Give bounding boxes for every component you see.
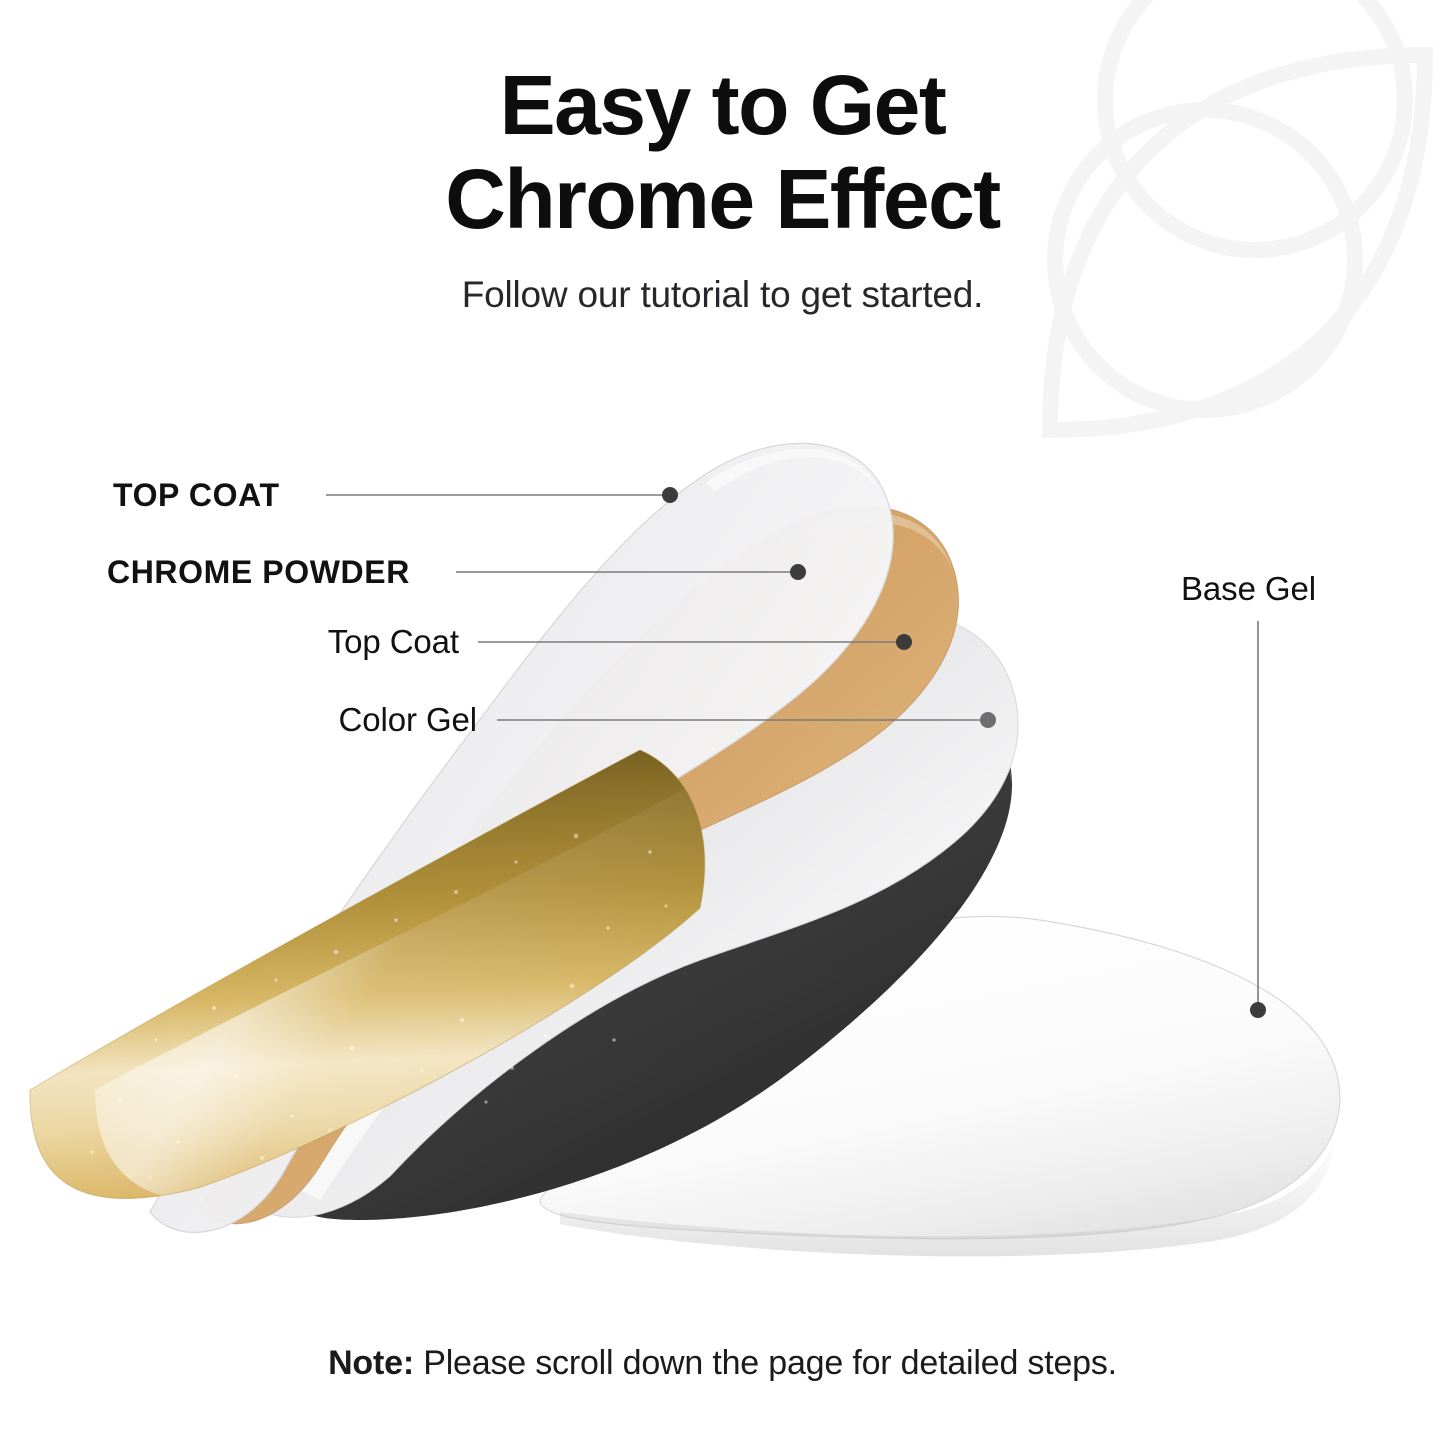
callout-label-chrome-powder: CHROME POWDER xyxy=(107,554,410,591)
callout-label-base-gel: Base Gel xyxy=(1181,570,1316,608)
page-title-line-1: Easy to Get xyxy=(0,58,1445,152)
nail-layer-diagram xyxy=(0,400,1445,1280)
callout-label-top-coat: Top Coat xyxy=(328,623,459,661)
footer-note: Note: Please scroll down the page for de… xyxy=(0,1344,1445,1445)
callout-label-top-coat-bold: TOP COAT xyxy=(113,477,280,514)
page-subtitle: Follow our tutorial to get started. xyxy=(0,274,1445,316)
poster-canvas: Easy to Get Chrome Effect Follow our tut… xyxy=(0,0,1445,1445)
page-title: Easy to Get Chrome Effect xyxy=(0,58,1445,246)
page-header: Easy to Get Chrome Effect Follow our tut… xyxy=(0,0,1445,316)
footer-note-text: Please scroll down the page for detailed… xyxy=(414,1344,1117,1382)
callout-label-color-gel: Color Gel xyxy=(339,701,477,739)
page-title-line-2: Chrome Effect xyxy=(0,152,1445,246)
footer-note-prefix: Note: xyxy=(328,1344,414,1382)
